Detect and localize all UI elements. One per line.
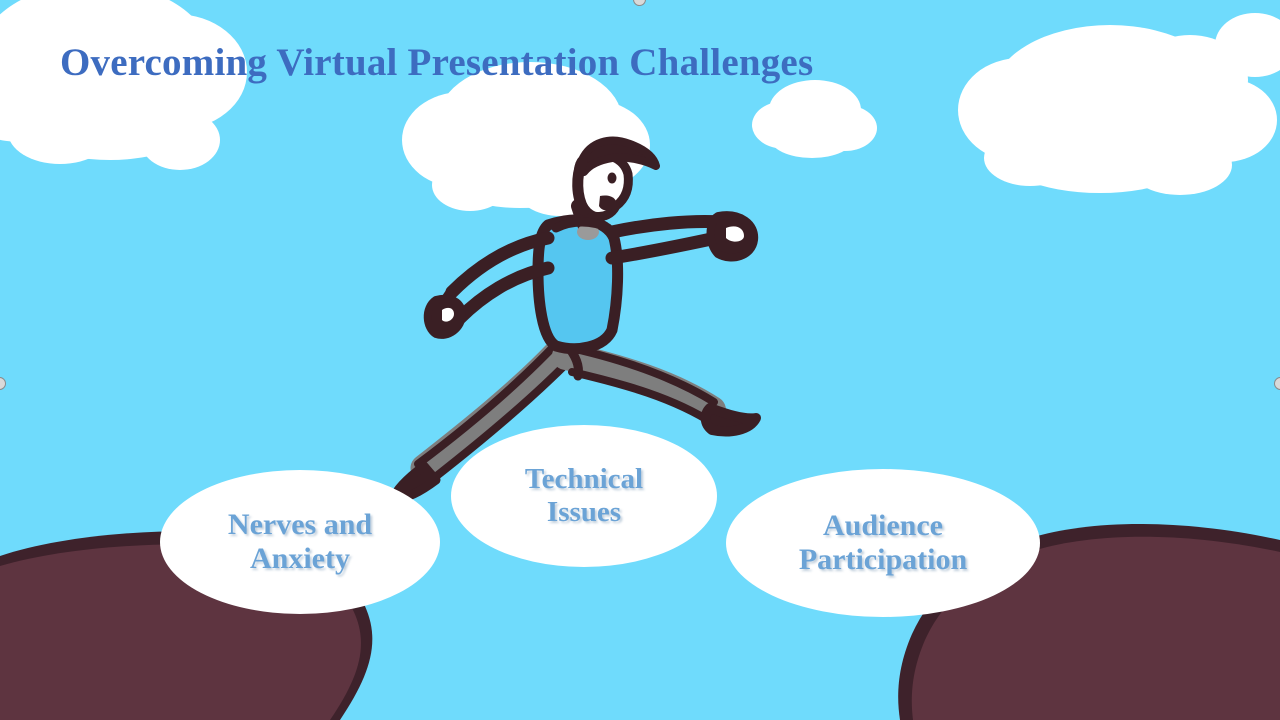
bubble-audience-line1: Audience xyxy=(789,509,977,543)
head xyxy=(578,141,656,217)
bubble-technical-issues[interactable]: Technical Issues xyxy=(451,425,717,567)
arm-back xyxy=(428,238,548,335)
bubble-technical-line1: Technical xyxy=(515,463,653,496)
bubble-audience-participation[interactable]: Audience Participation xyxy=(726,469,1040,617)
bubble-nerves-and-anxiety[interactable]: Nerves and Anxiety xyxy=(160,470,440,614)
man-leaping-illustration xyxy=(0,0,1280,720)
page-title: Overcoming Virtual Presentation Challeng… xyxy=(60,42,940,85)
slide-canvas[interactable]: Overcoming Virtual Presentation Challeng… xyxy=(0,0,1280,720)
bubble-nerves-line1: Nerves and xyxy=(218,508,382,542)
bubble-technical-line2: Issues xyxy=(515,496,653,529)
leg-front xyxy=(562,346,756,432)
bubble-nerves-line2: Anxiety xyxy=(218,542,382,576)
selection-handle-right[interactable] xyxy=(1274,377,1280,390)
arm-front xyxy=(612,215,754,258)
bubble-audience-line2: Participation xyxy=(789,543,977,577)
